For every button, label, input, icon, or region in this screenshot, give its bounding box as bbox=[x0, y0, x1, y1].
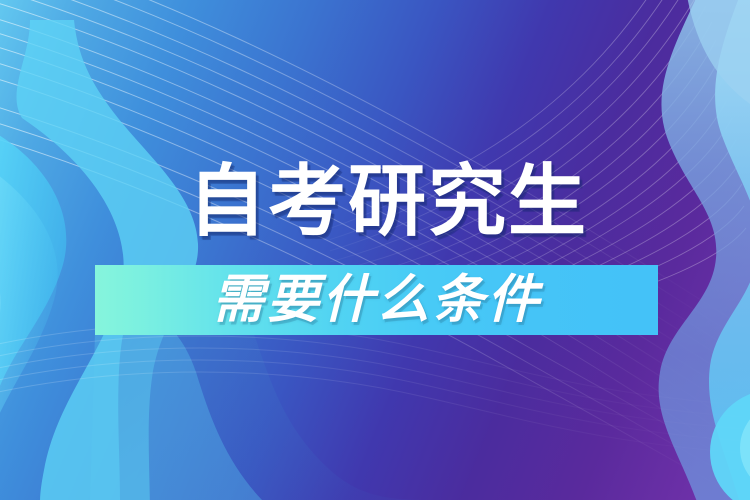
main-title: 自考研究生 bbox=[188, 157, 588, 245]
subtitle-text: 需要什么条件 bbox=[212, 271, 542, 329]
promo-banner: 自考研究生 需要什么条件 bbox=[0, 0, 750, 500]
headline-block: 自考研究生 需要什么条件 bbox=[0, 0, 750, 500]
